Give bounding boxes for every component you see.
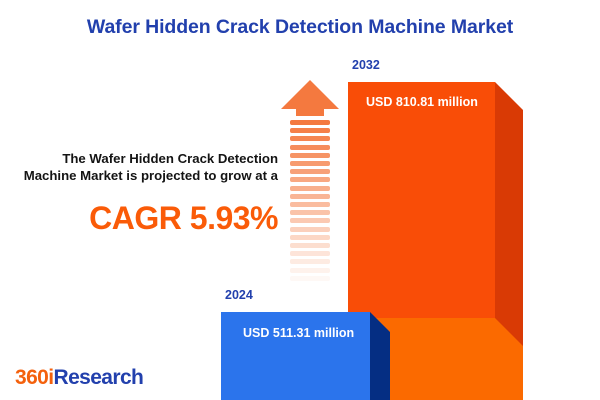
arrow-stripe	[290, 276, 330, 281]
arrow-head-icon	[281, 80, 339, 116]
arrow-stripe	[290, 128, 330, 133]
arrow-stripe	[290, 202, 330, 207]
arrow-stripe	[290, 161, 330, 166]
arrow-stripe	[290, 259, 330, 264]
arrow-stripe	[290, 235, 330, 240]
bar-2024-value-label: USD 511.31 million	[243, 326, 354, 340]
infographic-canvas: Wafer Hidden Crack Detection Machine Mar…	[0, 0, 600, 400]
growth-arrow-icon	[281, 80, 339, 292]
arrow-stripe	[290, 194, 330, 199]
bar-2024-year-label: 2024	[225, 288, 253, 302]
arrow-stripe	[290, 210, 330, 215]
brand-logo[interactable]: 360iResearch	[15, 366, 143, 390]
bar-2032-year-label: 2032	[352, 58, 380, 72]
cagr-value: CAGR 5.93%	[18, 200, 278, 237]
bar-2032-value-label: USD 810.81 million	[366, 95, 478, 109]
arrow-stripe	[290, 145, 330, 150]
arrow-stripe	[290, 227, 330, 232]
arrow-stripe	[290, 120, 330, 125]
arrow-stripe	[290, 177, 330, 182]
arrow-stripe	[290, 251, 330, 256]
arrow-stripe	[290, 284, 330, 289]
arrow-stripe	[290, 243, 330, 248]
market-statement: The Wafer Hidden Crack Detection Machine…	[18, 150, 278, 184]
arrow-stripe	[290, 218, 330, 223]
arrow-stripe	[290, 268, 330, 273]
logo-360: 360	[15, 366, 48, 389]
arrow-stripe	[290, 136, 330, 141]
arrow-stripe	[290, 186, 330, 191]
arrow-stripe	[290, 153, 330, 158]
arrow-stripe	[290, 169, 330, 174]
logo-research: Research	[54, 366, 144, 389]
